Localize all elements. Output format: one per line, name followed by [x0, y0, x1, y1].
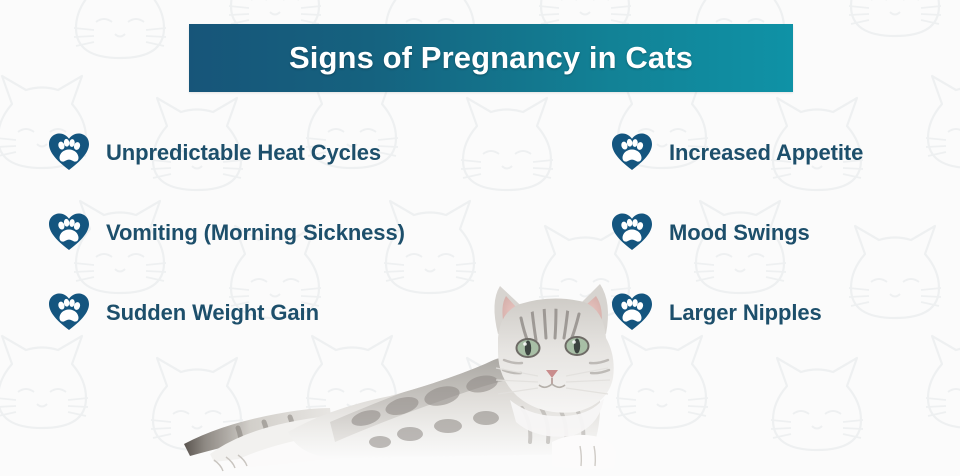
sign-item-mood-swings: Mood Swings: [611, 211, 810, 255]
paw-heart-icon: [48, 132, 90, 174]
title-banner: Signs of Pregnancy in Cats: [189, 24, 793, 92]
paw-heart-icon: [48, 292, 90, 334]
sign-label: Unpredictable Heat Cycles: [106, 140, 381, 166]
sign-label: Larger Nipples: [669, 300, 822, 326]
sign-item-unpredictable-heat-cycles: Unpredictable Heat Cycles: [48, 131, 381, 175]
paw-heart-icon: [611, 132, 653, 174]
page-title: Signs of Pregnancy in Cats: [289, 40, 693, 76]
sign-item-sudden-weight-gain: Sudden Weight Gain: [48, 291, 319, 335]
paw-heart-icon: [611, 292, 653, 334]
sign-item-vomiting-morning-sickness: Vomiting (Morning Sickness): [48, 211, 405, 255]
sign-item-increased-appetite: Increased Appetite: [611, 131, 863, 175]
sign-label: Vomiting (Morning Sickness): [106, 220, 405, 246]
sign-label: Mood Swings: [669, 220, 810, 246]
sign-label: Sudden Weight Gain: [106, 300, 319, 326]
paw-heart-icon: [48, 212, 90, 254]
sign-item-larger-nipples: Larger Nipples: [611, 291, 822, 335]
sign-label: Increased Appetite: [669, 140, 863, 166]
paw-heart-icon: [611, 212, 653, 254]
